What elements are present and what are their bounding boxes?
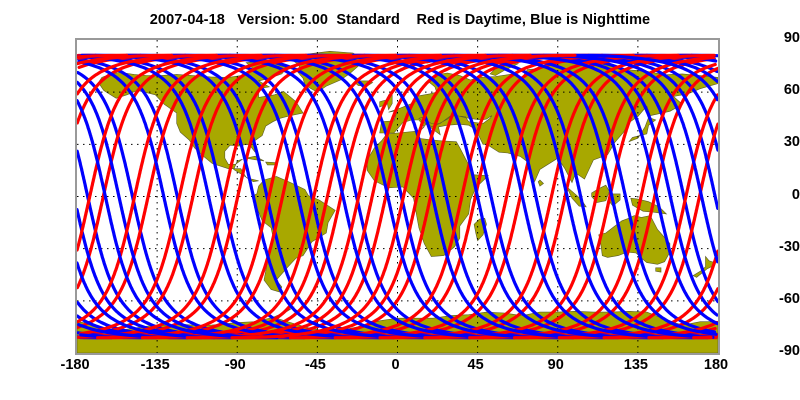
x-tick-label: 135 [624,357,648,373]
x-tick-label: 0 [391,357,399,373]
x-tick-label: 180 [704,357,728,373]
x-tick-label: 90 [548,357,564,373]
x-tick-label: -135 [141,357,170,373]
y-tick-label: -60 [736,291,800,307]
y-tick-label: 30 [736,134,800,150]
y-tick-label: 60 [736,82,800,98]
y-tick-label: -90 [736,343,800,359]
x-tick-label: -45 [305,357,326,373]
satellite-ground-track-page: 2007-04-18 Version: 5.00 Standard Red is… [0,0,800,400]
x-tick-label: -90 [225,357,246,373]
landmass-cuba [246,156,264,161]
landmass-sri-lanka [538,180,543,186]
y-tick-label: -30 [736,239,800,255]
page-title: 2007-04-18 Version: 5.00 Standard Red is… [0,12,800,28]
ground-track-map [77,40,718,353]
y-tick-label: 0 [736,187,800,203]
landmass-tasmania [656,268,661,272]
y-tick-label: 90 [736,30,800,46]
x-tick-label: 45 [468,357,484,373]
map-plot-area [75,38,720,355]
x-tick-label: -180 [60,357,89,373]
